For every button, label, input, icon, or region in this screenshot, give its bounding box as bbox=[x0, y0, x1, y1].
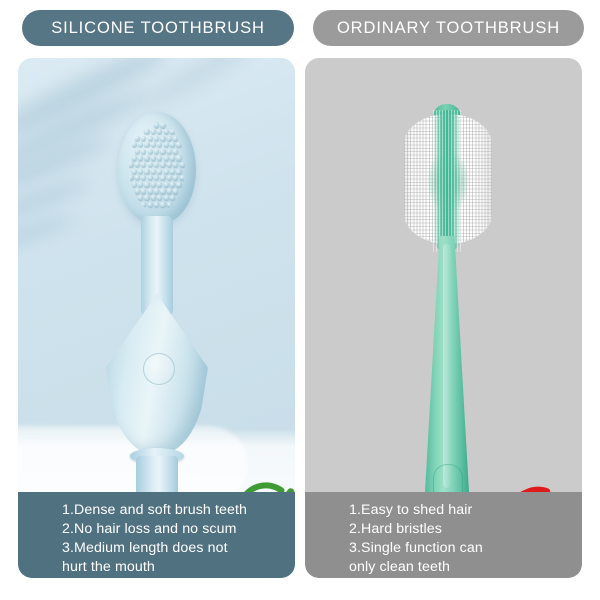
product-photo-ordinary bbox=[305, 58, 582, 492]
silicone-nub bbox=[170, 129, 175, 134]
silicone-nub bbox=[160, 136, 165, 141]
header-pill-silicone-label: SILICONE TOOTHBRUSH bbox=[51, 19, 265, 38]
silicone-nub bbox=[135, 136, 140, 141]
silicone-nub bbox=[170, 182, 175, 187]
drawbacks-list-ordinary: 1.Easy to shed hair 2.Hard bristles 3.Si… bbox=[305, 492, 582, 578]
silicone-nub bbox=[141, 188, 146, 193]
silicone-nub bbox=[132, 142, 137, 147]
list-item: 1.Dense and soft brush teeth bbox=[62, 501, 285, 520]
silicone-nub bbox=[135, 162, 140, 167]
silicone-nub bbox=[167, 175, 172, 180]
silicone-nub bbox=[154, 122, 159, 127]
silicone-nub bbox=[173, 188, 178, 193]
silicone-nub bbox=[148, 136, 153, 141]
silicone-nub bbox=[164, 142, 169, 147]
silicone-nub bbox=[141, 162, 146, 167]
silicone-nub bbox=[160, 188, 165, 193]
list-item: 2.Hard bristles bbox=[349, 520, 572, 539]
list-item: 2.No hair loss and no scum bbox=[62, 520, 285, 539]
silicone-nub bbox=[141, 175, 146, 180]
silicone-nub bbox=[144, 195, 149, 200]
product-photo-silicone bbox=[18, 58, 295, 492]
silicone-nub bbox=[154, 136, 159, 141]
silicone-nub bbox=[170, 155, 175, 160]
header-pill-silicone: SILICONE TOOTHBRUSH bbox=[22, 10, 294, 46]
silicone-nub bbox=[138, 182, 143, 187]
list-item: 3.Single function can bbox=[349, 539, 572, 558]
silicone-nub bbox=[144, 169, 149, 174]
silicone-nub bbox=[170, 169, 175, 174]
silicone-nub bbox=[173, 149, 178, 154]
silicone-nub bbox=[129, 162, 134, 167]
silicone-nub bbox=[132, 182, 137, 187]
silicone-nub bbox=[170, 142, 175, 147]
silicone-nub bbox=[157, 182, 162, 187]
silicone-nub bbox=[157, 195, 162, 200]
ordinary-brush-core bbox=[433, 110, 461, 252]
silicone-nub bbox=[132, 155, 137, 160]
silicone-nub bbox=[151, 142, 156, 147]
silicone-nub bbox=[164, 169, 169, 174]
list-item: 1.Easy to shed hair bbox=[349, 501, 572, 520]
silicone-nub bbox=[180, 162, 185, 167]
silicone-nub bbox=[157, 129, 162, 134]
silicone-nub bbox=[135, 175, 140, 180]
silicone-nub bbox=[164, 129, 169, 134]
silicone-nub bbox=[176, 155, 181, 160]
silicone-brush-stem bbox=[136, 456, 178, 492]
silicone-nub bbox=[167, 202, 172, 207]
silicone-nub bbox=[176, 142, 181, 147]
silicone-brush-button bbox=[143, 353, 175, 385]
green-check-circle-icon bbox=[234, 480, 295, 492]
silicone-nub bbox=[173, 162, 178, 167]
header-pill-ordinary: ORDINARY TOOTHBRUSH bbox=[313, 10, 584, 46]
silicone-nub bbox=[148, 202, 153, 207]
silicone-nub bbox=[151, 195, 156, 200]
silicone-nub bbox=[164, 182, 169, 187]
silicone-nub bbox=[160, 122, 165, 127]
silicone-nub bbox=[173, 136, 178, 141]
silicone-nub bbox=[141, 136, 146, 141]
silicone-toothbrush-illustration bbox=[18, 58, 295, 492]
silicone-nub bbox=[144, 155, 149, 160]
silicone-nub bbox=[151, 155, 156, 160]
comparison-panel-ordinary: 1.Easy to shed hair 2.Hard bristles 3.Si… bbox=[305, 58, 582, 578]
silicone-nub bbox=[154, 149, 159, 154]
silicone-nub bbox=[157, 169, 162, 174]
silicone-nub bbox=[176, 182, 181, 187]
list-item: only clean teeth bbox=[349, 558, 572, 577]
comparison-panel-silicone: 1.Dense and soft brush teeth 2.No hair l… bbox=[18, 58, 295, 578]
silicone-nub bbox=[164, 155, 169, 160]
silicone-nub bbox=[176, 169, 181, 174]
silicone-nub bbox=[154, 175, 159, 180]
silicone-nub bbox=[144, 129, 149, 134]
silicone-nub bbox=[160, 202, 165, 207]
silicone-nub bbox=[138, 169, 143, 174]
header-row: SILICONE TOOTHBRUSH ORDINARY TOOTHBRUSH bbox=[0, 10, 600, 48]
header-pill-ordinary-label: ORDINARY TOOTHBRUSH bbox=[337, 19, 560, 38]
silicone-nub bbox=[148, 149, 153, 154]
silicone-nub bbox=[170, 195, 175, 200]
silicone-nub bbox=[141, 202, 146, 207]
silicone-nub bbox=[167, 188, 172, 193]
silicone-nub bbox=[148, 162, 153, 167]
silicone-nub bbox=[160, 162, 165, 167]
ordinary-brush-thumb-rest bbox=[433, 464, 463, 492]
silicone-nub bbox=[160, 149, 165, 154]
silicone-nub bbox=[154, 202, 159, 207]
silicone-nub bbox=[154, 188, 159, 193]
silicone-nub bbox=[138, 142, 143, 147]
silicone-nub bbox=[151, 182, 156, 187]
silicone-nub bbox=[148, 188, 153, 193]
silicone-nub bbox=[138, 195, 143, 200]
silicone-nub bbox=[148, 175, 153, 180]
list-item: hurt the mouth bbox=[62, 558, 285, 577]
ordinary-toothbrush-illustration bbox=[305, 58, 582, 492]
list-item: 3.Medium length does not bbox=[62, 539, 285, 558]
silicone-nub bbox=[167, 136, 172, 141]
silicone-nub bbox=[154, 162, 159, 167]
silicone-nub bbox=[138, 155, 143, 160]
silicone-nub bbox=[151, 129, 156, 134]
silicone-nub-array bbox=[129, 122, 185, 212]
silicone-nub bbox=[167, 149, 172, 154]
silicone-nub bbox=[135, 149, 140, 154]
silicone-nub bbox=[167, 162, 172, 167]
silicone-nub bbox=[164, 195, 169, 200]
silicone-nub bbox=[135, 188, 140, 193]
silicone-nub bbox=[129, 175, 134, 180]
silicone-nub bbox=[144, 142, 149, 147]
silicone-nub bbox=[132, 169, 137, 174]
silicone-nub bbox=[151, 169, 156, 174]
silicone-nub bbox=[160, 175, 165, 180]
red-cross-circle-icon bbox=[505, 482, 571, 492]
benefits-list-silicone: 1.Dense and soft brush teeth 2.No hair l… bbox=[18, 492, 295, 578]
silicone-nub bbox=[144, 182, 149, 187]
ordinary-brush-handle-highlight bbox=[443, 244, 451, 488]
silicone-nub bbox=[173, 175, 178, 180]
silicone-nub bbox=[157, 155, 162, 160]
silicone-nub bbox=[141, 149, 146, 154]
silicone-nub bbox=[157, 142, 162, 147]
